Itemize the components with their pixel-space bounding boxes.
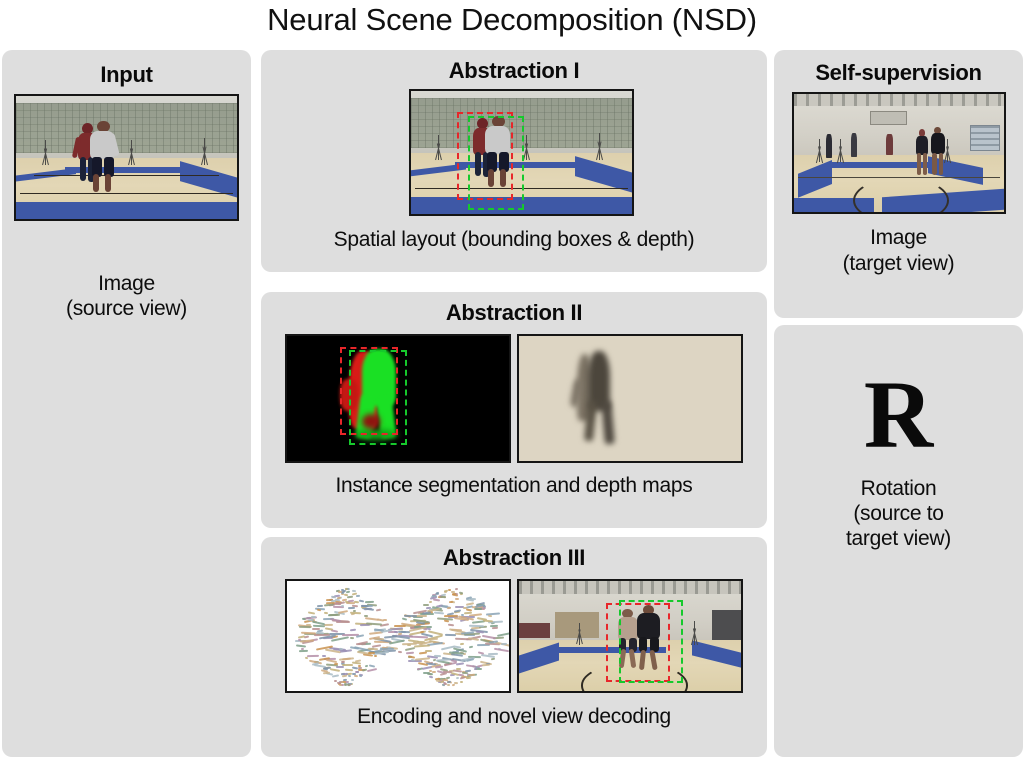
encoding-stroke bbox=[434, 612, 445, 615]
encoding-stroke bbox=[369, 664, 375, 667]
panel-abstraction-2: Abstraction II Instance segmentation and… bbox=[261, 292, 767, 528]
depth-map bbox=[517, 334, 743, 463]
court-line bbox=[20, 193, 232, 194]
panel-input-caption-line1: Image bbox=[2, 272, 251, 297]
encoding-stroke bbox=[423, 604, 429, 606]
encoding-stroke bbox=[317, 609, 321, 612]
encoding-stroke bbox=[376, 609, 381, 612]
encoding-stroke bbox=[358, 667, 362, 669]
panel-input-caption-line2: (source view) bbox=[2, 297, 251, 322]
encoding-stroke bbox=[336, 682, 340, 684]
encoding-stroke bbox=[456, 677, 459, 679]
encoding-stroke bbox=[352, 604, 358, 607]
athlete-silhouette bbox=[89, 121, 118, 197]
encoding-stroke bbox=[410, 658, 414, 661]
bounding-box-green bbox=[349, 350, 407, 445]
panel-rotation-caption-line2: (source to bbox=[774, 502, 1023, 527]
panel-abstraction-1: Abstraction I bbox=[261, 50, 767, 272]
encoding-stroke bbox=[354, 675, 358, 677]
camera-tripod bbox=[579, 623, 580, 645]
encoding-stroke bbox=[356, 634, 365, 638]
panel-rotation-caption-line3: target view) bbox=[774, 527, 1023, 552]
court-line bbox=[34, 175, 220, 176]
bounding-box-overlay-photo bbox=[409, 89, 634, 216]
encoding-stroke bbox=[345, 668, 354, 671]
encoding-stroke bbox=[347, 596, 353, 599]
encoding-stroke bbox=[358, 675, 362, 678]
encoding-cluster-left bbox=[300, 588, 389, 685]
encoding-stroke bbox=[466, 664, 476, 667]
encoding-stroke bbox=[460, 676, 465, 679]
encoding-stroke bbox=[299, 625, 311, 627]
court-line bbox=[798, 177, 1000, 178]
bystander-silhouette bbox=[826, 134, 832, 158]
encoding-stroke bbox=[444, 619, 449, 622]
panel-rotation-caption-line1: Rotation bbox=[774, 477, 1023, 502]
camera-tripod bbox=[526, 135, 527, 160]
panel-self-supervision-caption-line2: (target view) bbox=[774, 252, 1023, 277]
encoding-stroke bbox=[337, 596, 341, 599]
encoding-cluster-right bbox=[398, 588, 500, 685]
encoding-stroke bbox=[497, 632, 511, 638]
encoding-stroke bbox=[468, 637, 479, 641]
gym-wall-rack bbox=[970, 125, 999, 151]
gym-wall-rack bbox=[712, 610, 741, 643]
depth-figure-leg bbox=[602, 401, 616, 444]
encoding-stroke bbox=[404, 614, 417, 616]
encoding-stroke bbox=[380, 648, 395, 650]
encoding-stroke bbox=[436, 591, 440, 594]
panel-self-supervision-title: Self-supervision bbox=[774, 60, 1023, 86]
encoding-stroke bbox=[454, 609, 461, 612]
panel-abstraction-2-caption: Instance segmentation and depth maps bbox=[261, 474, 767, 499]
instance-segmentation-map bbox=[285, 334, 511, 463]
camera-tripod bbox=[204, 138, 205, 165]
camera-tripod bbox=[947, 139, 948, 163]
camera-tripod bbox=[840, 139, 841, 163]
feature-encoding-scatter bbox=[285, 579, 511, 693]
encoding-stroke bbox=[316, 631, 324, 634]
encoding-stroke bbox=[324, 624, 333, 626]
encoding-stroke bbox=[452, 684, 455, 687]
bounding-box-green bbox=[468, 116, 523, 211]
page-title: Neural Scene Decomposition (NSD) bbox=[0, 0, 1024, 46]
encoding-stroke bbox=[460, 643, 464, 646]
encoding-stroke bbox=[433, 599, 440, 602]
novel-view-decoded-photo bbox=[517, 579, 743, 693]
encoding-stroke bbox=[317, 605, 323, 607]
panel-self-supervision-caption-line1: Image bbox=[774, 226, 1023, 251]
encoding-stroke bbox=[356, 594, 360, 596]
floor-mat bbox=[14, 202, 239, 221]
encoding-stroke bbox=[350, 637, 354, 639]
encoding-stroke bbox=[432, 670, 436, 672]
panel-input: Input bbox=[2, 50, 251, 757]
encoding-stroke bbox=[478, 651, 484, 654]
encoding-stroke bbox=[338, 601, 346, 605]
encoding-stroke bbox=[420, 630, 424, 633]
encoding-stroke bbox=[414, 644, 430, 647]
panel-input-title: Input bbox=[2, 62, 251, 88]
encoding-stroke bbox=[466, 658, 474, 662]
encoding-stroke bbox=[350, 611, 361, 614]
panel-rotation: R Rotation (source to target view) bbox=[774, 325, 1023, 757]
encoding-stroke bbox=[445, 634, 456, 636]
encoding-stroke bbox=[487, 614, 492, 617]
encoding-stroke bbox=[474, 608, 482, 610]
encoding-stroke bbox=[361, 605, 368, 607]
encoding-stroke bbox=[398, 651, 402, 654]
encoding-stroke bbox=[323, 671, 330, 674]
target-view-gym-photo bbox=[792, 92, 1006, 214]
encoding-stroke bbox=[448, 623, 454, 626]
encoding-stroke bbox=[466, 608, 473, 611]
encoding-stroke bbox=[356, 643, 367, 645]
encoding-stroke bbox=[307, 655, 319, 657]
encoding-stroke bbox=[468, 645, 472, 648]
rotation-symbol: R bbox=[774, 363, 1023, 467]
encoding-stroke bbox=[353, 610, 356, 612]
encoding-stroke bbox=[429, 601, 432, 603]
encoding-stroke bbox=[332, 674, 339, 677]
encoding-stroke bbox=[341, 605, 345, 607]
encoding-stroke bbox=[429, 676, 433, 679]
nsd-figure: Neural Scene Decomposition (NSD) Input bbox=[0, 0, 1024, 765]
encoding-stroke bbox=[460, 681, 463, 683]
panel-abstraction-3-title: Abstraction III bbox=[261, 545, 767, 571]
encoding-stroke bbox=[365, 664, 369, 667]
camera-tripod bbox=[131, 140, 132, 165]
encoding-stroke bbox=[359, 600, 364, 603]
gym-ceiling-beams bbox=[519, 581, 741, 594]
encoding-stroke bbox=[494, 647, 509, 652]
encoding-stroke bbox=[447, 607, 451, 609]
encoding-stroke bbox=[367, 668, 378, 672]
bystander-silhouette bbox=[851, 133, 857, 157]
camera-tripod bbox=[819, 139, 820, 163]
panel-abstraction-3: Abstraction III bbox=[261, 537, 767, 757]
encoding-stroke bbox=[406, 651, 414, 654]
encoding-stroke bbox=[476, 630, 484, 633]
gym-ceiling-beams bbox=[794, 94, 1004, 106]
encoding-stroke bbox=[298, 650, 307, 652]
encoding-stroke bbox=[365, 601, 374, 603]
panel-abstraction-1-caption: Spatial layout (bounding boxes & depth) bbox=[261, 228, 767, 253]
encoding-stroke bbox=[324, 627, 332, 630]
encoding-stroke bbox=[447, 684, 450, 686]
bounding-box-green bbox=[619, 600, 683, 684]
encoding-stroke bbox=[348, 675, 351, 678]
gym-doors bbox=[555, 612, 599, 638]
encoding-stroke bbox=[444, 614, 458, 616]
gym-bleachers bbox=[519, 623, 550, 638]
encoding-stroke bbox=[342, 675, 348, 678]
encoding-stroke bbox=[455, 588, 458, 590]
encoding-stroke bbox=[402, 618, 407, 621]
encoding-stroke bbox=[343, 672, 348, 674]
athlete-silhouette bbox=[916, 129, 929, 176]
camera-tripod bbox=[438, 135, 439, 160]
panel-abstraction-3-caption: Encoding and novel view decoding bbox=[261, 705, 767, 730]
encoding-stroke bbox=[436, 679, 442, 682]
bystander-silhouette bbox=[886, 134, 892, 155]
encoding-stroke bbox=[364, 615, 369, 617]
encoding-stroke bbox=[298, 639, 301, 641]
camera-tripod bbox=[45, 140, 46, 165]
encoding-stroke bbox=[417, 663, 427, 667]
encoding-stroke bbox=[409, 636, 428, 639]
panel-abstraction-1-title: Abstraction I bbox=[261, 58, 767, 84]
encoding-stroke bbox=[455, 598, 459, 600]
encoding-stroke bbox=[393, 630, 397, 633]
panel-abstraction-2-title: Abstraction II bbox=[261, 300, 767, 326]
camera-tripod bbox=[599, 133, 600, 160]
encoding-stroke bbox=[330, 668, 340, 672]
encoding-stroke bbox=[455, 662, 463, 665]
encoding-stroke bbox=[346, 591, 350, 594]
source-view-gym-photo bbox=[14, 94, 239, 221]
encoding-stroke bbox=[308, 612, 315, 615]
encoding-stroke bbox=[339, 647, 343, 650]
encoding-stroke bbox=[465, 676, 470, 678]
encoding-stroke bbox=[492, 627, 498, 629]
encoding-stroke bbox=[488, 653, 498, 655]
encoding-stroke bbox=[474, 668, 478, 670]
panel-self-supervision: Self-supervision bbox=[774, 50, 1023, 318]
camera-tripod bbox=[694, 621, 695, 645]
encoding-stroke bbox=[350, 628, 356, 631]
encoding-stroke bbox=[368, 652, 375, 654]
encoding-stroke bbox=[351, 679, 354, 681]
encoding-stroke bbox=[440, 596, 446, 598]
encoding-stroke bbox=[324, 611, 328, 614]
encoding-stroke bbox=[415, 657, 430, 660]
encoding-stroke bbox=[312, 628, 320, 630]
encoding-stroke bbox=[352, 661, 361, 664]
gym-basketball-hoop bbox=[870, 111, 908, 125]
athlete-silhouette bbox=[931, 127, 946, 177]
encoding-stroke bbox=[482, 664, 491, 667]
encoding-stroke bbox=[419, 651, 427, 654]
encoding-stroke bbox=[352, 673, 356, 675]
encoding-stroke bbox=[443, 590, 447, 593]
